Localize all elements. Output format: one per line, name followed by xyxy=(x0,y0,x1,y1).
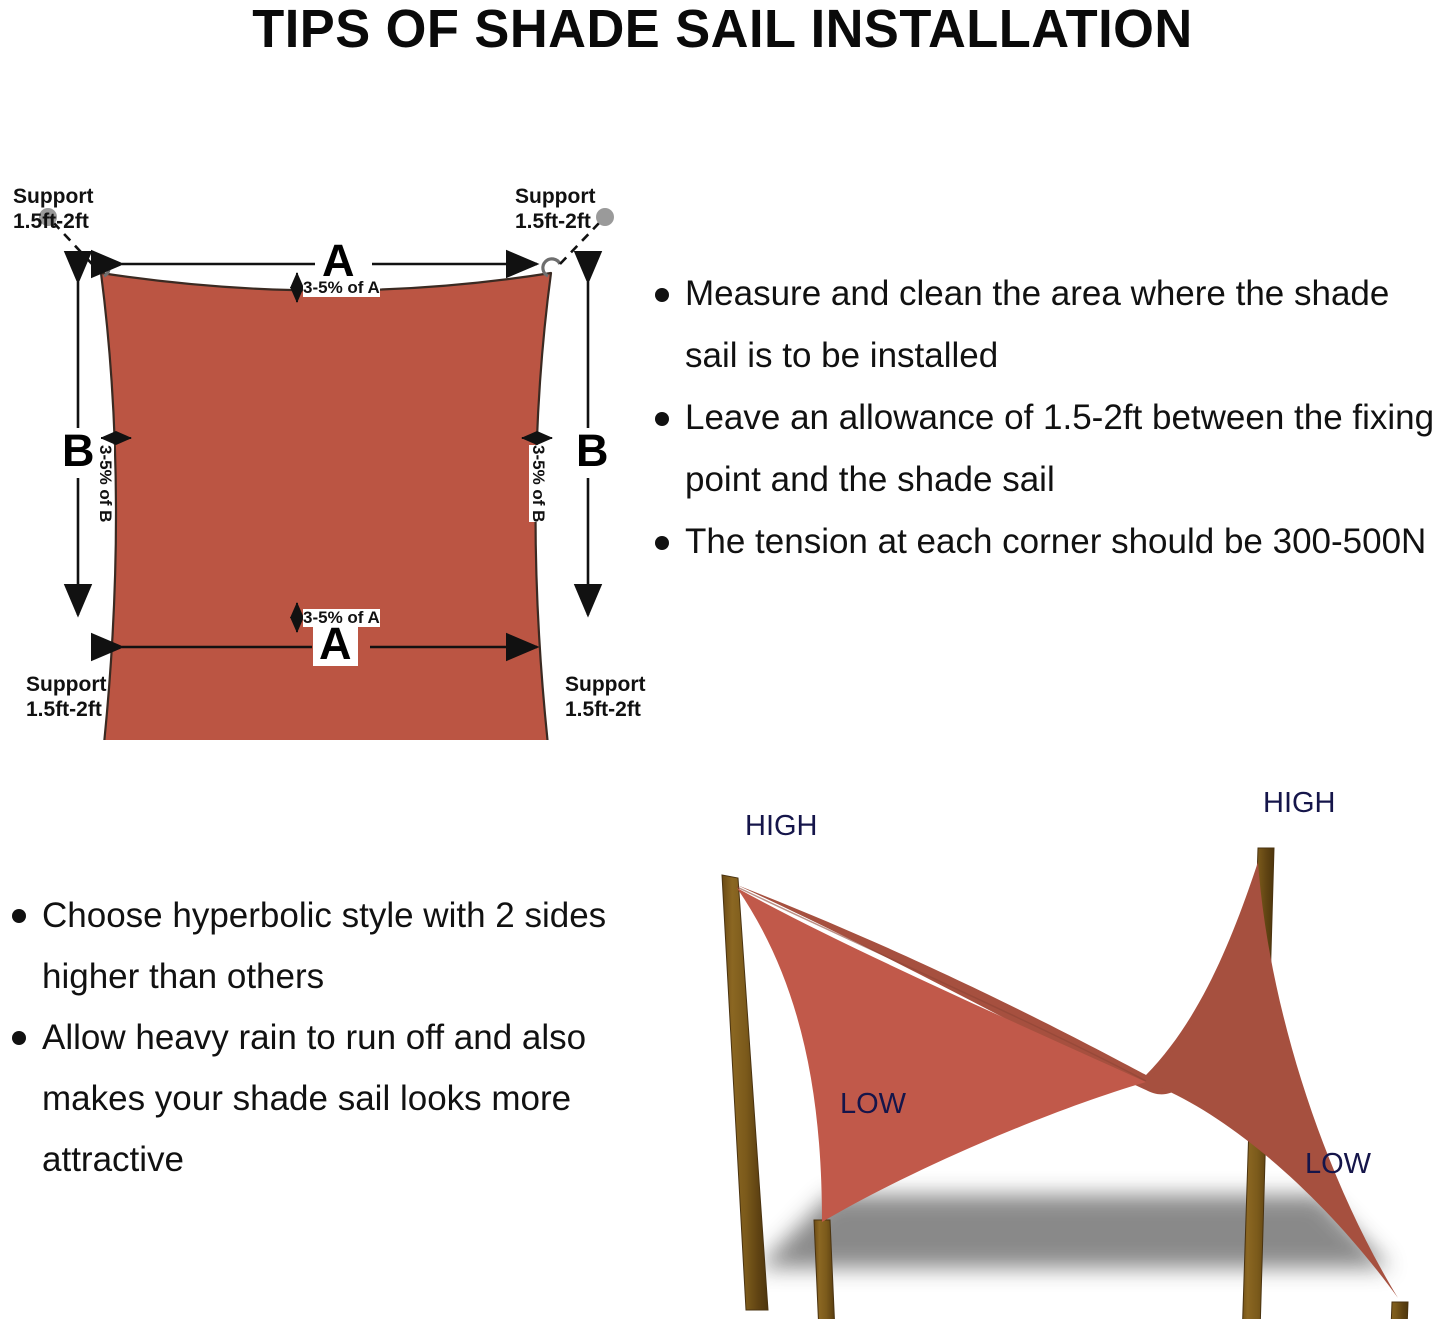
support-label-line1: Support xyxy=(13,184,93,209)
curve-note-top: 3-5% of A xyxy=(303,279,380,297)
list-item: Allow heavy rain to run off and also mak… xyxy=(2,1007,617,1190)
support-label-top-right: Support 1.5ft-2ft xyxy=(515,184,595,234)
support-label-line2: 1.5ft-2ft xyxy=(26,697,106,722)
dimension-letter-a-top: A xyxy=(316,238,361,283)
support-label-line1: Support xyxy=(26,672,106,697)
support-label-line2: 1.5ft-2ft xyxy=(565,697,645,722)
tips-list-installation: Measure and clean the area where the sha… xyxy=(645,263,1445,573)
dimension-letter-b-left: B xyxy=(56,428,101,473)
label-low-left: LOW xyxy=(840,1088,906,1120)
support-label-bottom-right: Support 1.5ft-2ft xyxy=(565,672,645,722)
label-high-left: HIGH xyxy=(745,810,818,842)
support-label-line1: Support xyxy=(515,184,595,209)
curve-note-left: 3-5% of B xyxy=(96,445,114,522)
list-item: The tension at each corner should be 300… xyxy=(645,511,1445,573)
infographic-page: TIPS OF SHADE SAIL INSTALLATION xyxy=(0,0,1445,1319)
support-dot-top-right xyxy=(596,208,614,226)
curve-note-right: 3-5% of B xyxy=(529,445,547,522)
dimension-letter-b-right: B xyxy=(570,428,615,473)
list-item: Leave an allowance of 1.5-2ft between th… xyxy=(645,387,1445,511)
sail-fabric-shape xyxy=(101,273,551,740)
post-low-right xyxy=(1382,1302,1408,1319)
label-low-right: LOW xyxy=(1305,1148,1371,1180)
rect-sail-diagram: Support 1.5ft-2ft Support 1.5ft-2ft Supp… xyxy=(0,160,660,740)
curve-note-bottom: 3-5% of A xyxy=(303,609,380,627)
post-far-left xyxy=(722,875,768,1310)
support-label-line1: Support xyxy=(565,672,645,697)
support-label-line2: 1.5ft-2ft xyxy=(13,209,93,234)
support-label-bottom-left: Support 1.5ft-2ft xyxy=(26,672,106,722)
support-label-line2: 1.5ft-2ft xyxy=(515,209,595,234)
support-label-top-left: Support 1.5ft-2ft xyxy=(13,184,93,234)
list-item: Choose hyperbolic style with 2 sides hig… xyxy=(2,885,617,1007)
hyperbolic-sail-svg xyxy=(680,790,1445,1319)
hyperbolic-sail-diagram: HIGH HIGH LOW LOW xyxy=(680,790,1445,1319)
tips-list-hyperbolic: Choose hyperbolic style with 2 sides hig… xyxy=(2,885,617,1190)
list-item: Measure and clean the area where the sha… xyxy=(645,263,1445,387)
page-title: TIPS OF SHADE SAIL INSTALLATION xyxy=(22,0,1424,62)
label-high-right: HIGH xyxy=(1263,787,1336,819)
dimension-letter-a-bottom: A xyxy=(313,621,358,666)
